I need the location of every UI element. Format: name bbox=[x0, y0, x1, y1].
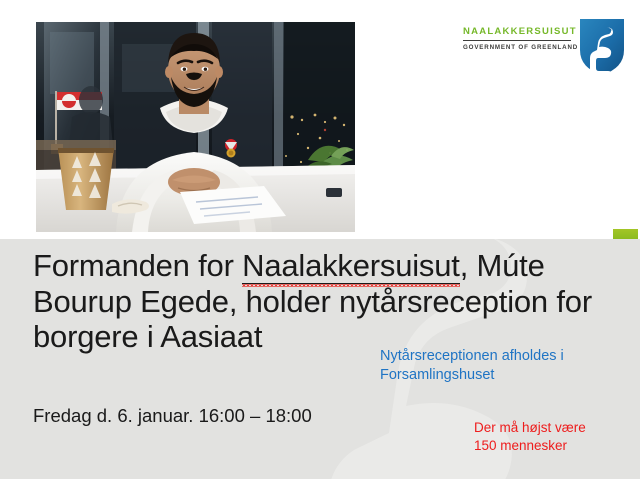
venue-note-line1: Nytårsreceptionen afholdes i bbox=[380, 347, 630, 366]
green-accent-bar bbox=[613, 229, 638, 239]
portrait-photo bbox=[36, 22, 355, 232]
headline: Formanden for Naalakkersuisut, Múte Bour… bbox=[33, 248, 618, 355]
headline-line1-suffix: , Múte bbox=[460, 248, 545, 283]
logo-subtitle: GOVERNMENT OF GREENLAND bbox=[463, 43, 573, 52]
headline-line1-prefix: Formanden for bbox=[33, 248, 242, 283]
logo-divider bbox=[463, 40, 571, 41]
event-datetime: Fredag d. 6. januar. 16:00 – 18:00 bbox=[33, 405, 312, 427]
logo-wordmark: NAALAKKERSUISUT GOVERNMENT OF GREENLAND bbox=[463, 26, 573, 52]
content-band: Formanden for Naalakkersuisut, Múte Bour… bbox=[0, 239, 640, 479]
venue-note: Nytårsreceptionen afholdes i Forsamlings… bbox=[380, 347, 630, 385]
capacity-note-line2: 150 mennesker bbox=[474, 437, 640, 455]
logo-name: NAALAKKERSUISUT bbox=[463, 26, 573, 38]
headline-line2: Bourup Egede, holder nytårsreception for bbox=[33, 284, 592, 319]
capacity-note-line1: Der må højst være bbox=[474, 419, 640, 437]
poster-slide: NAALAKKERSUISUT GOVERNMENT OF GREENLAND bbox=[0, 0, 640, 479]
headline-spellchecked-word: Naalakkersuisut bbox=[242, 248, 460, 284]
headline-line3: borgere i Aasiaat bbox=[33, 319, 262, 354]
venue-note-line2: Forsamlingshuset bbox=[380, 366, 630, 385]
capacity-note: Der må højst være 150 mennesker bbox=[474, 419, 640, 455]
polar-bear-shield-icon bbox=[579, 18, 625, 76]
government-logo: NAALAKKERSUISUT GOVERNMENT OF GREENLAND bbox=[463, 18, 631, 78]
